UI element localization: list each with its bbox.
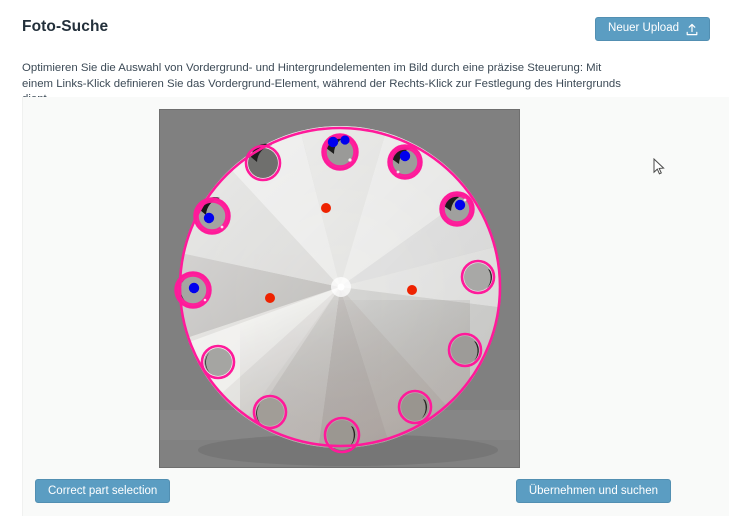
foreground-marker	[455, 200, 465, 210]
new-upload-button-label: Neuer Upload	[608, 23, 679, 35]
new-upload-button[interactable]: Neuer Upload	[595, 17, 710, 41]
background-marker	[407, 285, 417, 295]
page-title: Foto-Suche	[22, 18, 108, 36]
segmentation-overlay[interactable]	[160, 110, 519, 467]
annotated-image-canvas[interactable]	[160, 110, 519, 467]
foreground-marker	[328, 137, 338, 147]
bolt-hole	[451, 336, 479, 364]
bolt-hole	[256, 398, 284, 426]
foreground-marker	[189, 283, 199, 293]
foreground-marker	[340, 135, 349, 144]
page-header: Foto-Suche Neuer Upload	[0, 0, 750, 52]
content-panel: Correct part selection Übernehmen und su…	[22, 97, 729, 516]
app-root: Foto-Suche Neuer Upload Optimieren Sie d…	[0, 0, 750, 519]
bolt-hole	[401, 393, 429, 421]
foreground-marker	[204, 213, 214, 223]
apply-and-search-button[interactable]: Übernehmen und suchen	[516, 479, 671, 503]
foreground-marker	[400, 151, 410, 161]
bolt-hole	[464, 263, 492, 291]
bolt-hole	[204, 348, 232, 376]
background-marker	[321, 203, 331, 213]
correct-part-selection-button[interactable]: Correct part selection	[35, 479, 170, 503]
background-marker	[265, 293, 275, 303]
upload-icon	[686, 23, 698, 36]
